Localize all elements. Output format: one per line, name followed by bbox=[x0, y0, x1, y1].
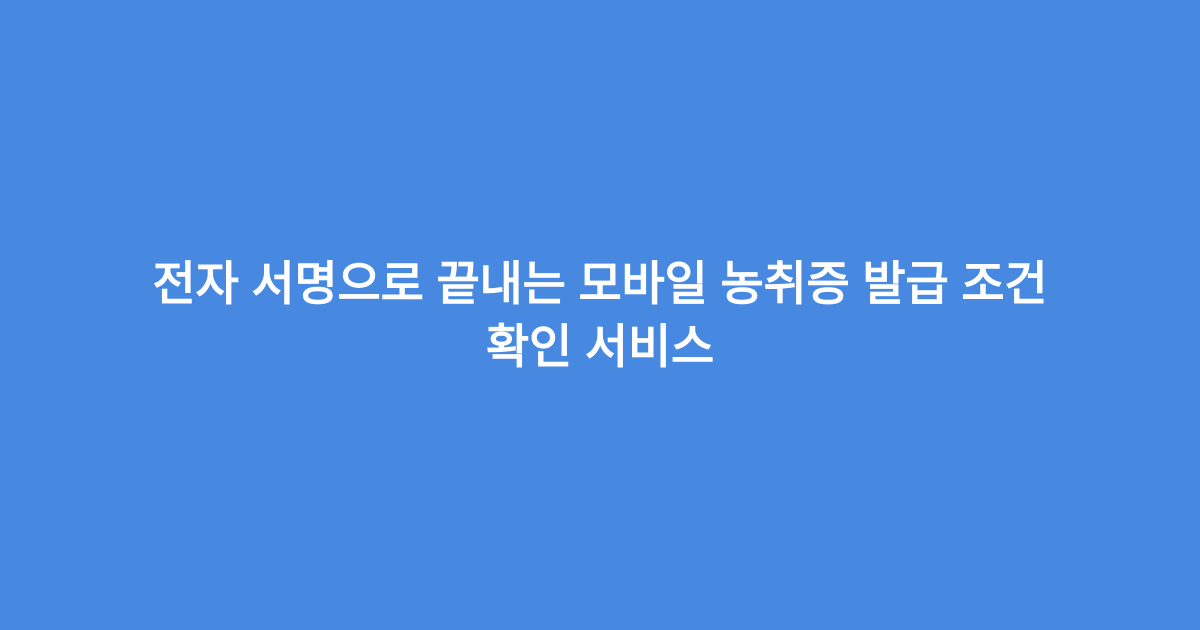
banner-title: 전자 서명으로 끝내는 모바일 농취증 발급 조건 확인 서비스 bbox=[105, 252, 1095, 378]
banner-content: 전자 서명으로 끝내는 모바일 농취증 발급 조건 확인 서비스 bbox=[95, 252, 1105, 378]
banner-card: 전자 서명으로 끝내는 모바일 농취증 발급 조건 확인 서비스 bbox=[0, 0, 1200, 630]
